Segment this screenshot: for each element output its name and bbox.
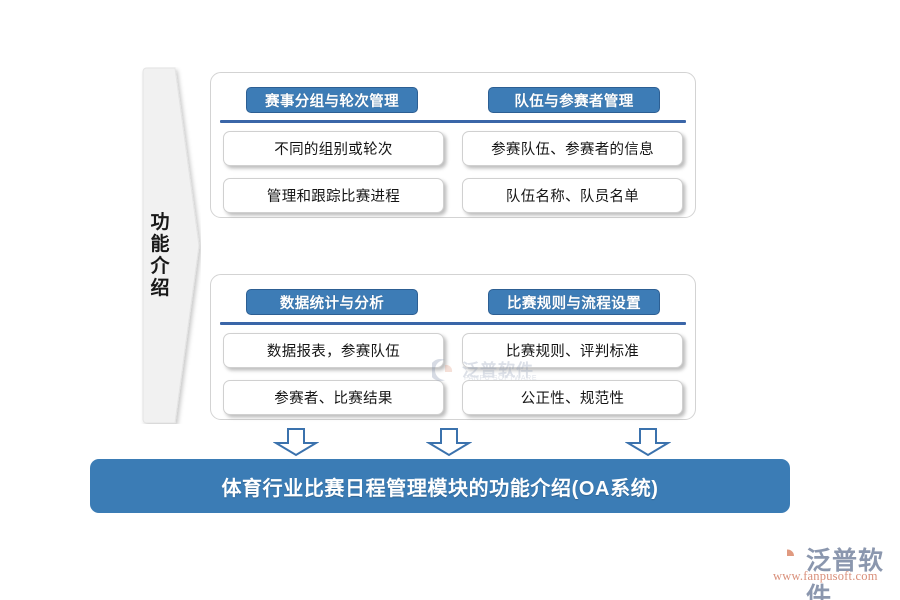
chevron-label-char-2: 能: [139, 234, 181, 256]
cell-different-groups-rounds[interactable]: 不同的组别或轮次: [223, 131, 444, 166]
diagram-canvas: 功 能 介 绍 赛事分组与轮次管理 队伍与参赛者管理 不同的组别或轮次 参赛队伍…: [0, 0, 900, 600]
pill-data-statistics-analysis[interactable]: 数据统计与分析: [246, 289, 418, 315]
group-top-cells: 不同的组别或轮次 参赛队伍、参赛者的信息 管理和跟踪比赛进程 队伍名称、队员名单: [211, 123, 695, 218]
pill-rules-workflow-settings[interactable]: 比赛规则与流程设置: [488, 289, 660, 315]
feature-group-top: 赛事分组与轮次管理 队伍与参赛者管理 不同的组别或轮次 参赛队伍、参赛者的信息 …: [210, 72, 696, 218]
chevron-label: 功 能 介 绍: [139, 212, 181, 300]
cell-team-participant-info[interactable]: 参赛队伍、参赛者的信息: [462, 131, 683, 166]
cell-manage-track-progress[interactable]: 管理和跟踪比赛进程: [223, 178, 444, 213]
summary-banner-title: 体育行业比赛日程管理模块的功能介绍(OA系统): [221, 472, 658, 501]
function-intro-chevron: 功 能 介 绍: [139, 67, 201, 424]
group-bottom-cells: 数据报表，参赛队伍 比赛规则、评判标准 参赛者、比赛结果 公正性、规范性: [211, 325, 695, 420]
cell-participants-results[interactable]: 参赛者、比赛结果: [223, 380, 444, 415]
group-bottom-pill-row: 数据统计与分析 比赛规则与流程设置: [211, 285, 695, 319]
chevron-label-char-4: 绍: [139, 278, 181, 300]
cell-fairness-standardization[interactable]: 公正性、规范性: [462, 380, 683, 415]
cell-team-name-roster[interactable]: 队伍名称、队员名单: [462, 178, 683, 213]
chevron-label-char-3: 介: [139, 256, 181, 278]
group-top-pill-row: 赛事分组与轮次管理 队伍与参赛者管理: [211, 83, 695, 117]
down-arrow-icon-3: [625, 427, 671, 457]
down-arrow-icon-2: [426, 427, 472, 457]
cell-rules-judging-criteria[interactable]: 比赛规则、评判标准: [462, 333, 683, 368]
pill-event-grouping-rounds[interactable]: 赛事分组与轮次管理: [246, 87, 418, 113]
down-arrow-icon-1: [273, 427, 319, 457]
cell-data-reports-teams[interactable]: 数据报表，参赛队伍: [223, 333, 444, 368]
logo-url: www.fanpusoft.com: [773, 569, 878, 584]
chevron-label-char-1: 功: [139, 212, 181, 234]
feature-group-bottom: 数据统计与分析 比赛规则与流程设置 数据报表，参赛队伍 比赛规则、评判标准 参赛…: [210, 274, 696, 420]
pill-team-participant-management[interactable]: 队伍与参赛者管理: [488, 87, 660, 113]
fanpu-logo: 泛普软件 www.fanpusoft.com: [772, 541, 892, 587]
summary-banner: 体育行业比赛日程管理模块的功能介绍(OA系统): [90, 459, 790, 513]
